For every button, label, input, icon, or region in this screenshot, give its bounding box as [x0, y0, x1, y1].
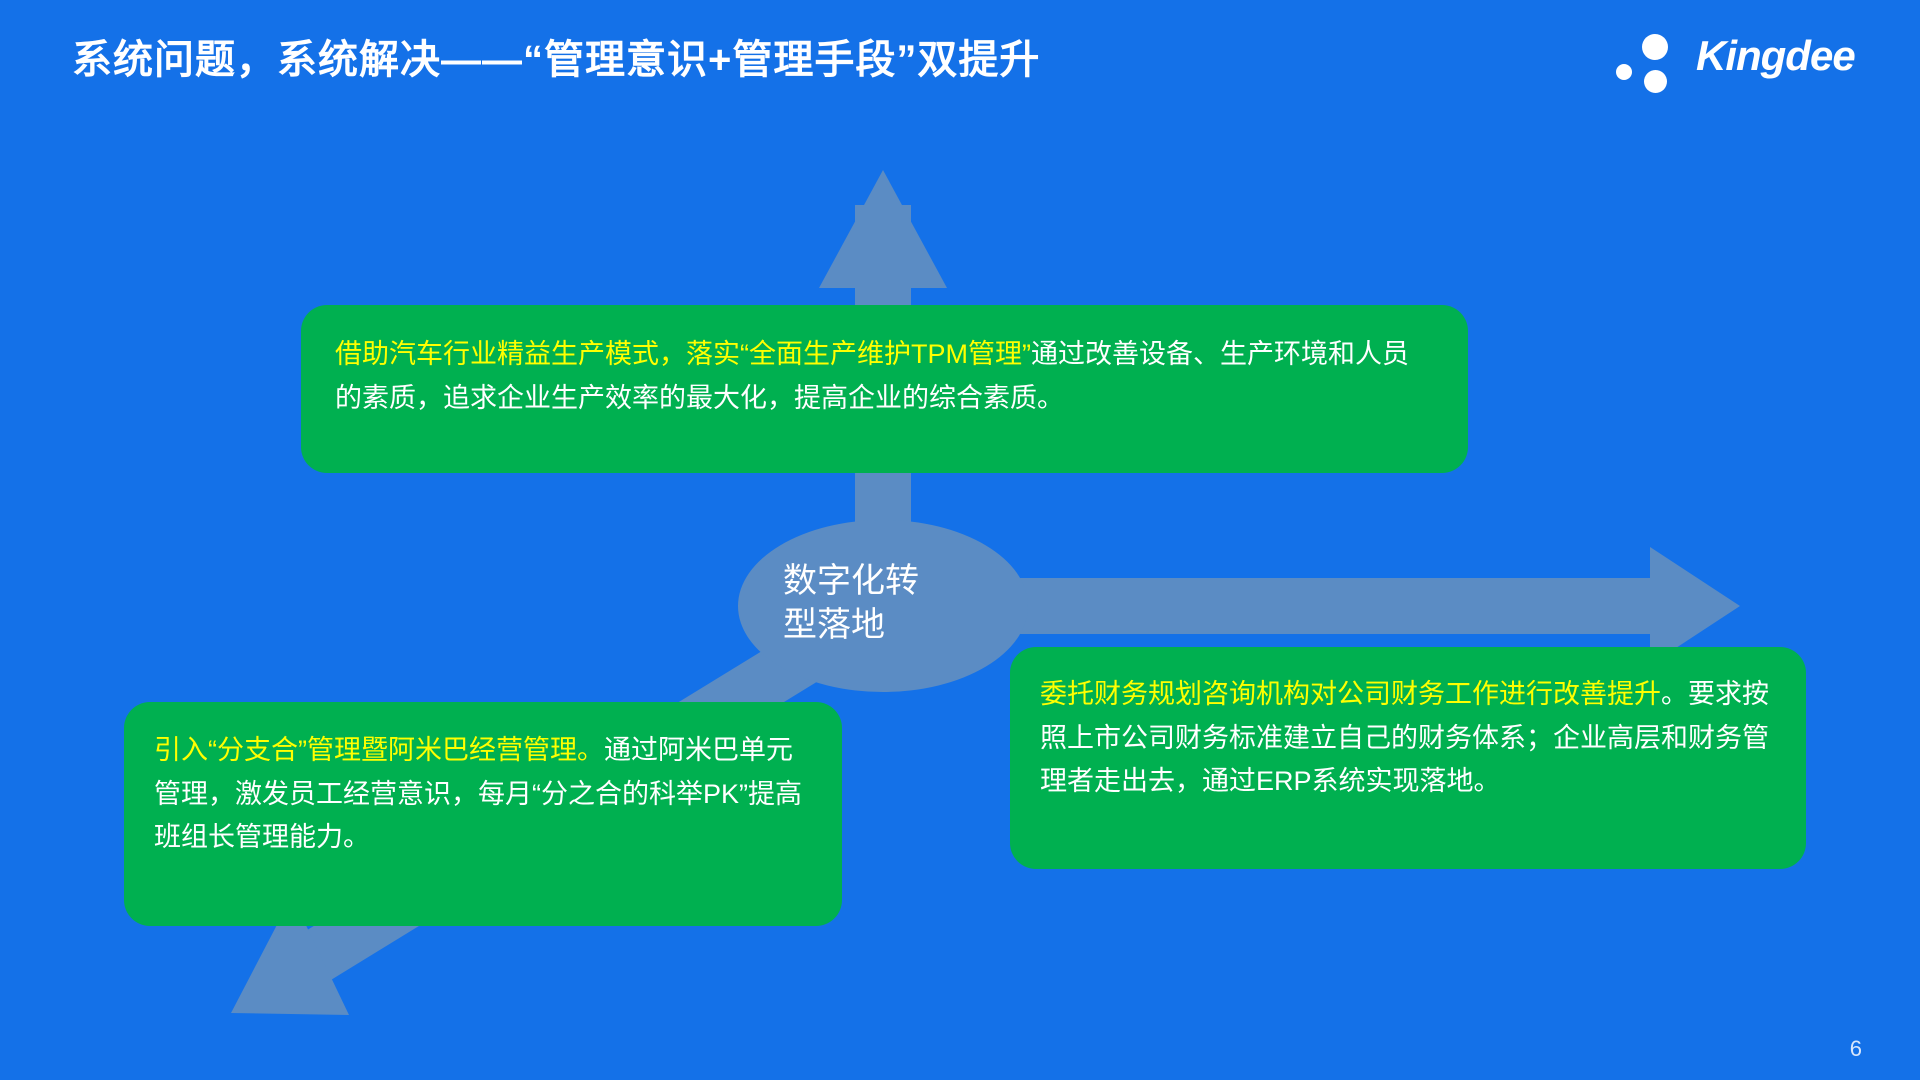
callout-right: 委托财务规划咨询机构对公司财务工作进行改善提升。要求按照上市公司财务标准建立自己… [1010, 647, 1806, 869]
callout-left-highlight: 引入“分支合”管理暨阿米巴经营管理。 [154, 735, 604, 765]
page-number: 6 [1850, 1036, 1862, 1062]
callout-top-highlight: 借助汽车行业精益生产模式，落实“全面生产维护TPM管理” [335, 339, 1031, 369]
callout-left: 引入“分支合”管理暨阿米巴经营管理。通过阿米巴单元管理，激发员工经营意识，每月“… [124, 702, 842, 926]
callout-top: 借助汽车行业精益生产模式，落实“全面生产维护TPM管理”通过改善设备、生产环境和… [301, 305, 1468, 473]
slide-canvas: 系统问题，系统解决——“管理意识+管理手段”双提升 Kingdee 数字化 [0, 0, 1920, 1080]
callout-right-highlight: 委托财务规划咨询机构对公司财务工作进行改善提升 [1040, 679, 1661, 709]
hub-ellipse [738, 520, 1028, 692]
